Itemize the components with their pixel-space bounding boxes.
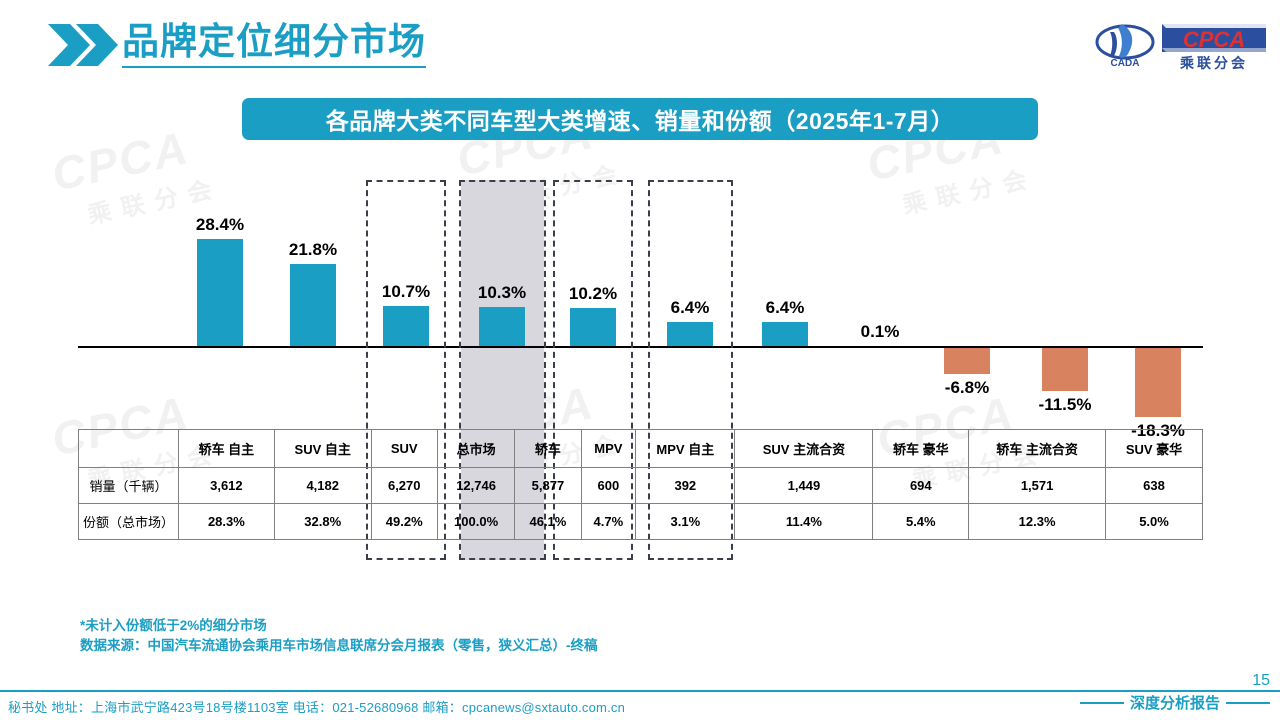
table-cell: 12.3%	[969, 504, 1106, 540]
table-column-header-6: MPV	[581, 430, 636, 468]
bar-value-label-1: 28.4%	[175, 215, 265, 235]
report-tag-label: 深度分析报告	[1130, 692, 1220, 713]
bar-value-label-9: -6.8%	[922, 378, 1012, 398]
table-column-header-11: SUV 豪华	[1106, 430, 1203, 468]
table-cell: 11.4%	[735, 504, 873, 540]
table-cell: 5,877	[515, 468, 581, 504]
bar-11	[1135, 348, 1181, 417]
table-cell: 694	[873, 468, 969, 504]
bar-1	[197, 239, 243, 346]
bar-3	[383, 306, 429, 346]
bar-value-label-5: 10.2%	[548, 284, 638, 304]
bar-7	[762, 322, 808, 346]
bar-9	[944, 348, 990, 374]
svg-text:CADA: CADA	[1111, 58, 1140, 69]
page-number: 15	[1030, 672, 1270, 690]
table-cell: 32.8%	[274, 504, 371, 540]
table-cell: 12,746	[437, 468, 515, 504]
bar-value-label-8: 0.1%	[835, 322, 925, 342]
table-column-header-3: SUV	[371, 430, 437, 468]
table-row-header-1: 销量（千辆）	[79, 468, 179, 504]
bar-value-label-7: 6.4%	[740, 298, 830, 318]
bar-value-label-2: 21.8%	[268, 240, 358, 260]
chart-zero-axis	[78, 346, 1203, 348]
table-column-header-5: 轿车	[515, 430, 581, 468]
table-cell: 4,182	[274, 468, 371, 504]
cpca-logo: CADA CPCA 乘联分会	[1092, 16, 1268, 72]
bar-chart: 28.4%21.8%10.7%10.3%10.2%6.4%6.4%0.1%-6.…	[0, 160, 1280, 420]
table-column-header-10: 轿车 主流合资	[969, 430, 1106, 468]
report-tag-rule-right	[1226, 702, 1270, 704]
bar-2	[290, 264, 336, 346]
table-cell: 46.1%	[515, 504, 581, 540]
table-cell: 3.1%	[636, 504, 735, 540]
table-header-row: 轿车 自主SUV 自主SUV总市场轿车MPVMPV 自主SUV 主流合资轿车 豪…	[79, 430, 1203, 468]
slide-page: CPCA 乘联分会 CPCA 乘联分会 CPCA 乘联分会 CPCA 乘联分会 …	[0, 0, 1280, 720]
table-cell: 5.0%	[1106, 504, 1203, 540]
table-cell: 100.0%	[437, 504, 515, 540]
footer-right-block: 15 深度分析报告	[1030, 672, 1270, 713]
table-cell: 6,270	[371, 468, 437, 504]
table-cell: 392	[636, 468, 735, 504]
bar-4	[479, 307, 525, 346]
bar-value-label-6: 6.4%	[645, 298, 735, 318]
table-column-header-8: SUV 主流合资	[735, 430, 873, 468]
svg-text:乘联分会: 乘联分会	[1179, 55, 1248, 71]
report-tag: 深度分析报告	[1030, 692, 1270, 713]
svg-text:CPCA: CPCA	[1183, 27, 1245, 52]
bar-6	[667, 322, 713, 346]
table-cell: 638	[1106, 468, 1203, 504]
table-column-header-9: 轿车 豪华	[873, 430, 969, 468]
table-column-header-2: SUV 自主	[274, 430, 371, 468]
footer-contact: 秘书处 地址：上海市武宁路423号18号楼1103室 电话：021-526809…	[8, 697, 625, 716]
double-chevron-right-icon	[48, 22, 118, 68]
table-column-header-4: 总市场	[437, 430, 515, 468]
table-row-header-2: 份额（总市场）	[79, 504, 179, 540]
table-body: 销量（千辆）3,6124,1826,27012,7465,8776003921,…	[79, 468, 1203, 540]
table-corner-cell	[79, 430, 179, 468]
bar-value-label-10: -11.5%	[1020, 395, 1110, 415]
subtitle-banner: 各品牌大类不同车型大类增速、销量和份额（2025年1-7月）	[242, 98, 1038, 140]
table-cell: 1,449	[735, 468, 873, 504]
table-cell: 600	[581, 468, 636, 504]
bar-5	[570, 308, 616, 346]
bar-value-label-3: 10.7%	[361, 282, 451, 302]
table-row: 销量（千辆）3,6124,1826,27012,7465,8776003921,…	[79, 468, 1203, 504]
table-cell: 49.2%	[371, 504, 437, 540]
table-row: 份额（总市场）28.3%32.8%49.2%100.0%46.1%4.7%3.1…	[79, 504, 1203, 540]
bar-value-label-4: 10.3%	[457, 283, 547, 303]
footnote-line-2: 数据来源：中国汽车流通协会乘用车市场信息联席分会月报表（零售，狭义汇总）-终稿	[80, 636, 598, 656]
footnotes: *未计入份额低于2%的细分市场 数据来源：中国汽车流通协会乘用车市场信息联席分会…	[80, 616, 598, 656]
table-cell: 28.3%	[179, 504, 275, 540]
table-cell: 3,612	[179, 468, 275, 504]
table-cell: 5.4%	[873, 504, 969, 540]
page-title: 品牌定位细分市场	[122, 20, 426, 68]
bar-10	[1042, 348, 1088, 391]
table-cell: 4.7%	[581, 504, 636, 540]
table-cell: 1,571	[969, 468, 1106, 504]
data-table: 轿车 自主SUV 自主SUV总市场轿车MPVMPV 自主SUV 主流合资轿车 豪…	[78, 429, 1203, 540]
footnote-line-1: *未计入份额低于2%的细分市场	[80, 616, 598, 636]
table-column-header-7: MPV 自主	[636, 430, 735, 468]
report-tag-rule-left	[1080, 702, 1124, 704]
table-column-header-1: 轿车 自主	[179, 430, 275, 468]
